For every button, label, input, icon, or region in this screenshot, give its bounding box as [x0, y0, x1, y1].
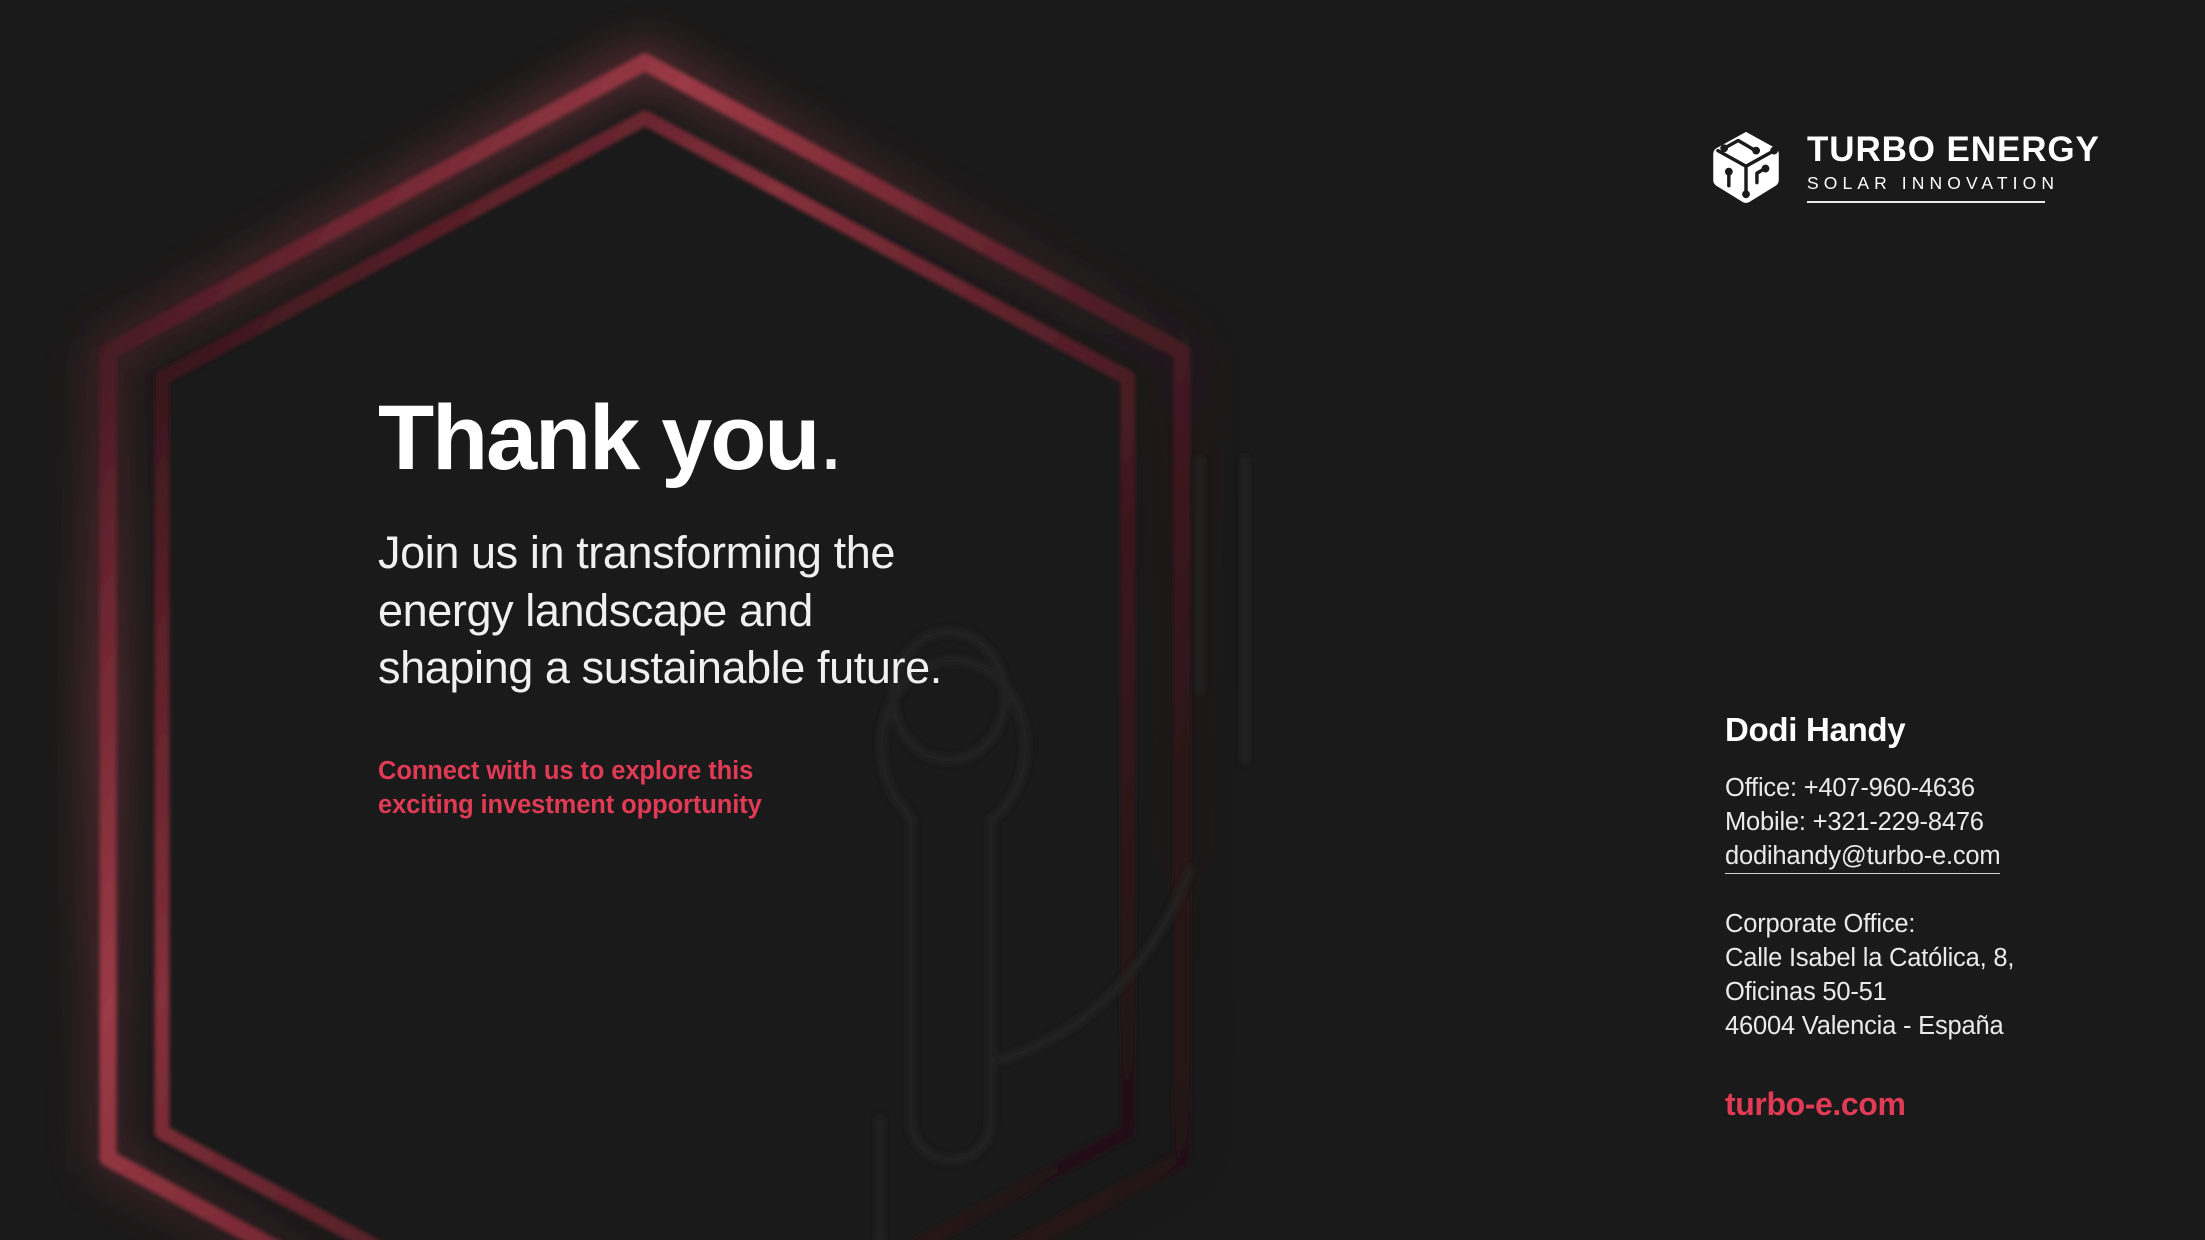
- contact-office-phone[interactable]: Office: +407-960-4636: [1725, 772, 2155, 806]
- cta-line-2: exciting investment opportunity: [378, 788, 1138, 823]
- website-link[interactable]: turbo-e.com: [1725, 1086, 1906, 1123]
- page-title: Thank you.: [378, 392, 1138, 484]
- brand-wordmark: TURBO ENERGY SOLAR INNOVATION: [1807, 132, 2100, 203]
- corporate-address: Corporate Office: Calle Isabel la Católi…: [1725, 908, 2155, 1044]
- brand-logo[interactable]: TURBO ENERGY SOLAR INNOVATION: [1707, 128, 2100, 206]
- contact-block: Dodi Handy Office: +407-960-4636 Mobile:…: [1725, 712, 2155, 1123]
- subheadline-line-3: shaping a sustainable future.: [378, 639, 1138, 697]
- contact-person-name: Dodi Handy: [1725, 712, 2155, 748]
- contact-email-link[interactable]: dodihandy@turbo-e.com: [1725, 841, 2000, 874]
- headline-period: .: [818, 387, 844, 489]
- headline-text: Thank you: [378, 387, 818, 489]
- contact-mobile-phone[interactable]: Mobile: +321-229-8476: [1725, 806, 2155, 840]
- subheadline-line-2: energy landscape and: [378, 582, 1138, 640]
- subheadline: Join us in transforming the energy lands…: [378, 524, 1138, 697]
- contact-details: Office: +407-960-4636 Mobile: +321-229-8…: [1725, 772, 2155, 874]
- address-line-1: Calle Isabel la Católica, 8,: [1725, 942, 2155, 976]
- turbo-energy-cube-icon: [1707, 128, 1785, 206]
- subheadline-line-1: Join us in transforming the: [378, 524, 1138, 582]
- call-to-action-text: Connect with us to explore this exciting…: [378, 754, 1138, 823]
- brand-underline-rule: [1807, 201, 2045, 203]
- brand-name: TURBO ENERGY: [1807, 132, 2100, 169]
- cta-line-1: Connect with us to explore this: [378, 754, 1138, 789]
- thank-you-slide: Thank you. Join us in transforming the e…: [0, 0, 2205, 1240]
- address-line-2: Oficinas 50-51: [1725, 976, 2155, 1010]
- address-line-3: 46004 Valencia - España: [1725, 1010, 2155, 1044]
- address-label: Corporate Office:: [1725, 908, 2155, 942]
- headline-group: Thank you. Join us in transforming the e…: [378, 392, 1138, 823]
- brand-tagline: SOLAR INNOVATION: [1807, 174, 2100, 193]
